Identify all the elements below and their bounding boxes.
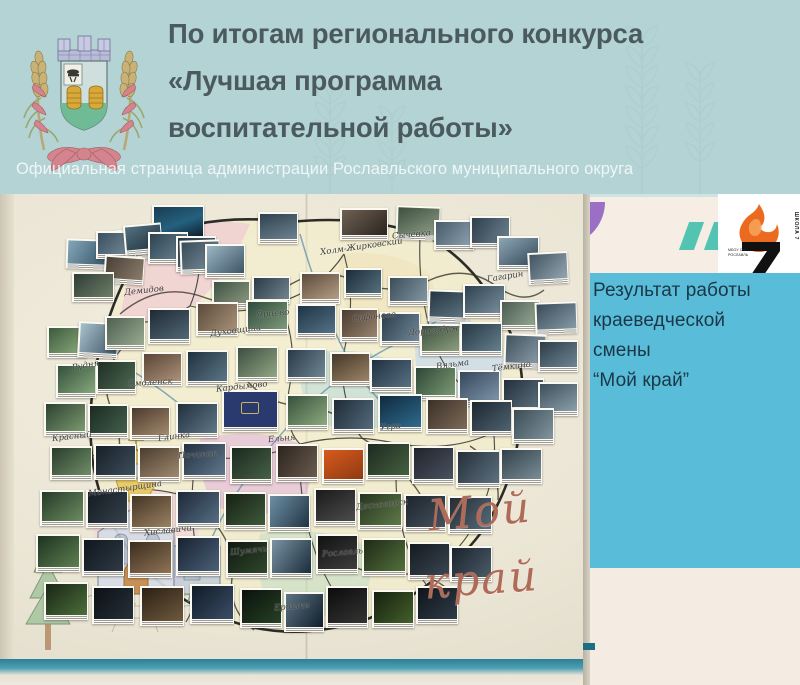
slide-caption-line-3: смены: [593, 336, 788, 366]
map-photo-card: [372, 590, 414, 628]
map-photo-card: [286, 348, 326, 382]
flame-seven-icon: [726, 202, 792, 278]
handwritten-title-line-2: край: [422, 550, 540, 610]
map-photo-card: [230, 446, 272, 484]
slide-bottom-tick: [583, 643, 595, 650]
map-photo-card: [140, 586, 184, 626]
school-logo-subtext: МБОУ СШ РОСЛАВЛЬ: [728, 248, 748, 257]
map-photo-card: [300, 272, 340, 304]
map-photo-card: [176, 490, 220, 528]
screenshot-root: По итогам регионального конкурса «Лучшая…: [0, 0, 800, 685]
map-photo-card: [500, 448, 542, 484]
coat-of-arms-icon: [14, 22, 154, 172]
header-title-line-3: воспитательной работы»: [168, 104, 788, 151]
map-photo-card: [460, 322, 502, 356]
map-photo-card: [344, 268, 382, 298]
map-photo-card: [236, 346, 278, 382]
page-header-banner: По итогам регионального конкурса «Лучшая…: [0, 0, 800, 194]
header-subtitle: Официальная страница администрации Росла…: [16, 160, 791, 179]
map-photo-card: [412, 446, 454, 484]
map-photo-card: [534, 301, 577, 334]
slide-bottom-area: [589, 568, 800, 685]
map-photo-card: [362, 538, 406, 576]
slide-panel: МБОУ СШ РОСЛАВЛЬ ШКОЛА 7 Результат работ…: [583, 194, 800, 685]
map-photo-card: [190, 584, 234, 624]
map-photo-card: [72, 272, 114, 302]
photo-bottom-strip: [0, 659, 583, 685]
map-photo-card: [463, 284, 505, 318]
map-photo-card: [538, 340, 578, 372]
handwritten-title-line-1: Мой: [426, 482, 534, 543]
map-photo-card: [370, 358, 412, 392]
map-photo-card: [224, 492, 266, 530]
map-photo-card: [105, 316, 145, 350]
map-photo-card: [276, 444, 318, 482]
slide-caption-line-4: “Мой край”: [593, 366, 788, 396]
map-photo-card: [326, 586, 368, 628]
map-photo-card: [50, 446, 92, 480]
slide-left-edge: [583, 194, 590, 685]
map-photo-card: [258, 212, 298, 244]
header-title-line-2: «Лучшая программа: [168, 57, 788, 104]
map-photo-card: [186, 350, 228, 386]
map-photo-card: [434, 220, 474, 250]
slide-caption-line-2: краеведческой: [593, 306, 788, 336]
header-title: По итогам регионального конкурса «Лучшая…: [168, 10, 788, 170]
map-photo-card: [44, 582, 88, 620]
map-photo-card: [36, 534, 80, 572]
map-photo-card: [182, 442, 226, 480]
school-logo-side-text: ШКОЛА 7: [793, 212, 799, 240]
map-photo-card: [388, 276, 428, 306]
map-photo-card: [286, 394, 328, 430]
map-photo-card: [92, 586, 134, 624]
map-photo-card: [205, 244, 245, 278]
map-photo-card: [40, 490, 84, 526]
map-photo-card: [366, 442, 410, 480]
map-photo-card: [456, 450, 500, 488]
map-photo-card: [296, 304, 336, 338]
map-photo-card: [138, 446, 180, 482]
map-photo-card-center: [222, 390, 278, 432]
map-photo-card: [268, 494, 310, 532]
map-photo-card: [270, 538, 312, 578]
map-photo-card: [94, 444, 136, 480]
slide-caption-line-1: Результат работы: [593, 276, 788, 306]
map-photo-card: [512, 408, 554, 444]
map-photo-card: [314, 488, 356, 526]
map-photo-card: [332, 398, 374, 434]
map-photo-card: [527, 251, 569, 285]
school-logo-line-2: РОСЛАВЛЬ: [728, 253, 748, 258]
school-logo-line-1: МБОУ СШ: [728, 248, 748, 253]
map-photo-card: [330, 352, 370, 386]
map-photo-card: [88, 404, 128, 438]
slide-caption: Результат работы краеведческой смены “Мо…: [593, 276, 788, 396]
map-photo-card: [82, 538, 124, 576]
header-title-line-1: По итогам регионального конкурса: [168, 10, 788, 57]
map-photo-card: [128, 540, 172, 578]
map-photo-card: [176, 536, 220, 576]
map-photo-card: [148, 308, 190, 344]
map-poster-photo: Демидов Рудня Смоленск Духовщина Ярцево …: [0, 194, 583, 685]
map-photo-card: [340, 208, 388, 240]
map-photo-card: [426, 398, 468, 434]
map-photo-card: [322, 448, 364, 484]
map-photo-card: [470, 400, 512, 436]
